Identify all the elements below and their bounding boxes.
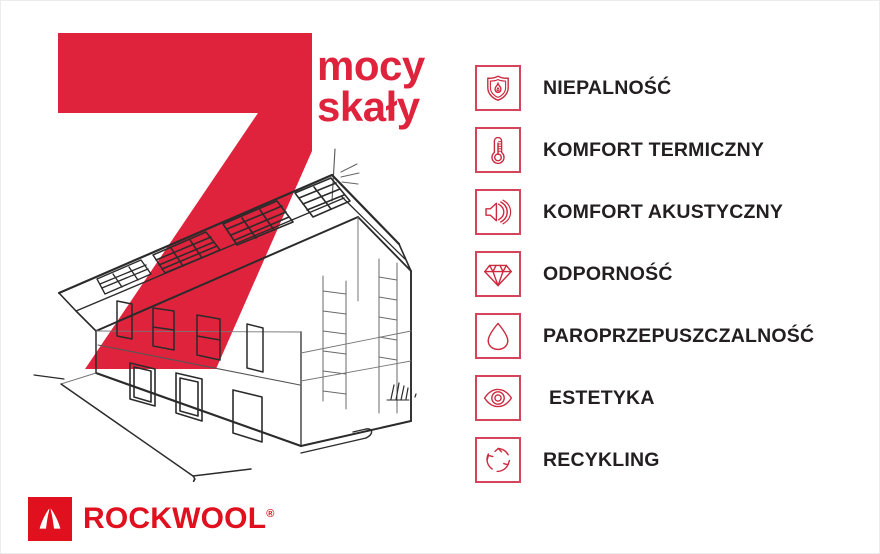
feature-label: ODPORNOŚĆ [543, 263, 673, 286]
feature-label: KOMFORT AKUSTYCZNY [543, 201, 783, 224]
feature-icon-box [475, 251, 521, 297]
feature-item[interactable]: RECYKLING [475, 429, 875, 491]
thermometer-icon [483, 135, 513, 165]
feature-label: KOMFORT TERMICZNY [543, 139, 764, 162]
headline-line-1: mocy [317, 42, 425, 89]
feature-item[interactable]: NIEPALNOŚĆ [475, 57, 875, 119]
feature-icon-box [475, 313, 521, 359]
diamond-icon [483, 259, 513, 289]
rockwool-arch-mark [28, 497, 72, 541]
feature-icon-box [475, 375, 521, 421]
feature-item[interactable]: ESTETYKA [475, 367, 875, 429]
rockwool-logo[interactable]: ROCKWOOL® [28, 497, 275, 541]
recycling-arrows-icon [483, 445, 513, 475]
feature-label: RECYKLING [543, 449, 660, 472]
wordmark-text: ROCKWOOL [83, 502, 266, 535]
feature-label: PAROPRZEPUSZCZALNOŚĆ [543, 325, 814, 348]
feature-icon-box [475, 437, 521, 483]
feature-icon-box [475, 65, 521, 111]
speaker-sound-icon [483, 197, 513, 227]
feature-label: ESTETYKA [549, 387, 655, 410]
water-droplet-icon [483, 321, 513, 351]
feature-icon-box [475, 189, 521, 235]
hero-visual: mocy skały [1, 1, 471, 554]
feature-item[interactable]: PAROPRZEPUSZCZALNOŚĆ [475, 305, 875, 367]
feature-item[interactable]: ODPORNOŚĆ [475, 243, 875, 305]
shield-flame-icon [483, 73, 513, 103]
feature-label: NIEPALNOŚĆ [543, 77, 671, 100]
eye-icon [483, 383, 513, 413]
registered-mark: ® [266, 508, 274, 520]
feature-list: NIEPALNOŚĆ KOMFORT TERMICZNY [475, 57, 875, 491]
headline-line-2: skały [317, 86, 467, 127]
feature-icon-box [475, 127, 521, 173]
headline: mocy skały [317, 45, 467, 127]
feature-item[interactable]: KOMFORT TERMICZNY [475, 119, 875, 181]
feature-item[interactable]: KOMFORT AKUSTYCZNY [475, 181, 875, 243]
poster-canvas: mocy skały ROCKWOOL® [0, 0, 880, 554]
rockwool-wordmark: ROCKWOOL® [83, 504, 275, 534]
